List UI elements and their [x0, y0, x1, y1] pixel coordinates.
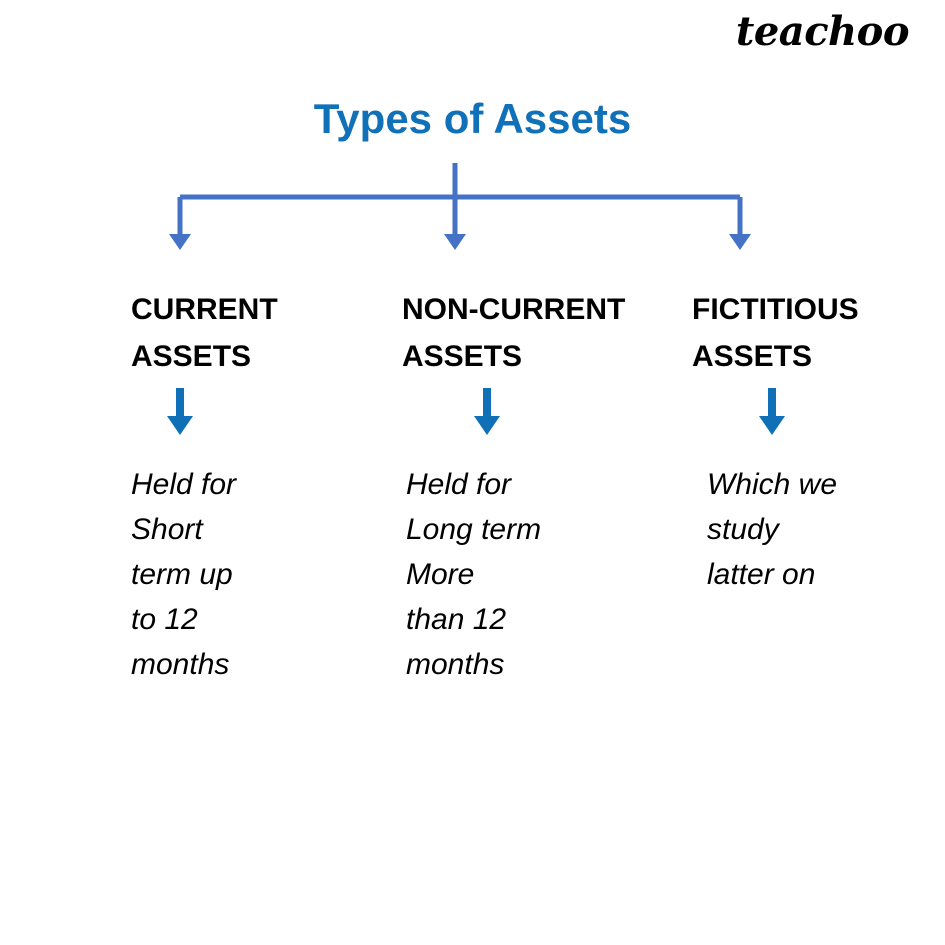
down-arrow-icon — [472, 388, 502, 438]
branch-heading-line1: FICTITIOUS — [692, 286, 859, 333]
branch-description-non-current: Held for Long term More than 12 months — [406, 462, 541, 687]
connector-arrowhead-center — [444, 234, 466, 250]
description-line: term up — [131, 552, 236, 597]
description-line: More — [406, 552, 541, 597]
branch-heading-line2: ASSETS — [692, 333, 859, 380]
page-title: Types of Assets — [0, 96, 945, 142]
down-arrow-icon — [165, 388, 195, 438]
branch-heading-line2: ASSETS — [402, 333, 625, 380]
description-line: study — [707, 507, 837, 552]
branch-description-fictitious: Which we study latter on — [707, 462, 837, 597]
branch-current-assets: CURRENT ASSETS — [131, 286, 278, 380]
description-line: to 12 — [131, 597, 236, 642]
description-line: Long term — [406, 507, 541, 552]
branch-description-current: Held for Short term up to 12 months — [131, 462, 236, 687]
description-line: months — [131, 642, 236, 687]
branch-heading-line1: CURRENT — [131, 286, 278, 333]
branch-fictitious-assets: FICTITIOUS ASSETS — [692, 286, 859, 380]
description-line: Held for — [131, 462, 236, 507]
description-line: Held for — [406, 462, 541, 507]
description-line: Which we — [707, 462, 837, 507]
down-arrow-icon — [757, 388, 787, 438]
branch-heading-line1: NON-CURRENT — [402, 286, 625, 333]
branch-non-current-assets: NON-CURRENT ASSETS — [402, 286, 625, 380]
connector-arrowhead-right — [729, 234, 751, 250]
description-line: Short — [131, 507, 236, 552]
branch-heading-line2: ASSETS — [131, 333, 278, 380]
description-line: months — [406, 642, 541, 687]
connector-arrowhead-left — [169, 234, 191, 250]
teachoo-logo: teachoo — [736, 12, 909, 52]
slide-canvas: teachoo Types of Assets CURRENT ASSETS H… — [0, 0, 945, 945]
description-line: latter on — [707, 552, 837, 597]
description-line: than 12 — [406, 597, 541, 642]
